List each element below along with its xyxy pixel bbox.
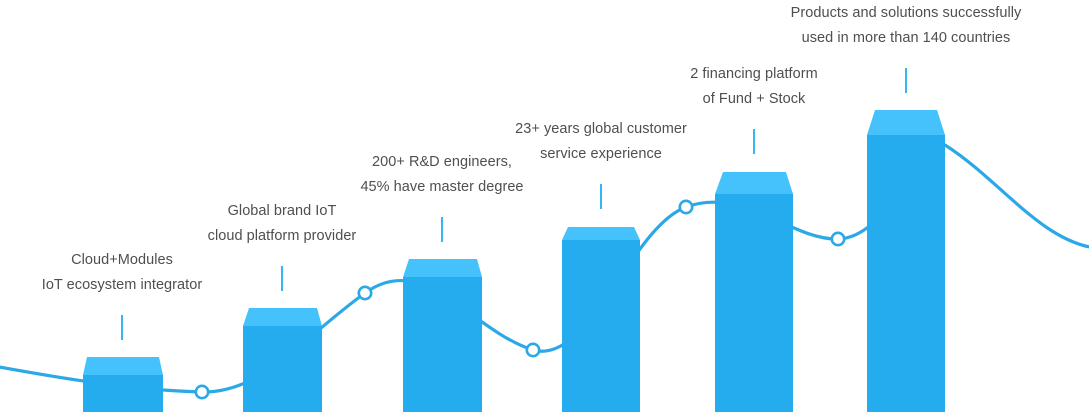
milestone-label-6-line-2: used in more than 140 countries [766,26,1046,51]
bar-4-top-face [562,227,640,240]
milestone-label-5: 2 financing platform of Fund + Stock [654,62,854,112]
bar-5-front-face [715,194,793,412]
bar-2 [243,308,322,412]
milestone-label-5-line-2: of Fund + Stock [654,87,854,112]
milestone-label-1: Cloud+Modules IoT ecosystem integrator [22,248,222,298]
bar-1-front-face [83,375,163,412]
bar-2-front-face [243,326,322,412]
bar-6-top-face [867,110,945,135]
bar-3 [403,259,482,412]
curve-node-2 [359,287,371,299]
bar-3-top-face [403,259,482,277]
milestone-label-2-line-2: cloud platform provider [182,224,382,249]
bar-4-front-face [562,240,640,412]
curve-node-5 [832,233,844,245]
bar-4 [562,227,640,412]
bar-6-front-face [867,135,945,412]
milestone-label-6-line-1: Products and solutions successfully [766,1,1046,26]
milestone-label-5-line-1: 2 financing platform [654,62,854,87]
milestone-label-4-line-2: service experience [491,142,711,167]
milestone-label-4: 23+ years global customer service experi… [491,117,711,167]
infographic-chart: Cloud+Modules IoT ecosystem integrator G… [0,0,1089,412]
bar-2-top-face [243,308,322,326]
bar-1-top-face [83,357,163,375]
milestone-label-1-line-1: Cloud+Modules [22,248,222,273]
milestone-label-6: Products and solutions successfully used… [766,1,1046,51]
curve-node-4 [680,201,692,213]
chart-canvas [0,0,1089,412]
bar-3-front-face [403,277,482,412]
milestone-label-4-line-1: 23+ years global customer [491,117,711,142]
curve-node-1 [196,386,208,398]
milestone-label-1-line-2: IoT ecosystem integrator [22,273,222,298]
bar-6 [867,110,945,412]
bar-5 [715,172,793,412]
bar-1 [83,357,163,412]
milestone-label-3-line-2: 45% have master degree [342,175,542,200]
milestone-label-2: Global brand IoT cloud platform provider [182,199,382,249]
milestone-label-2-line-1: Global brand IoT [182,199,382,224]
bar-5-top-face [715,172,793,194]
curve-node-3 [527,344,539,356]
